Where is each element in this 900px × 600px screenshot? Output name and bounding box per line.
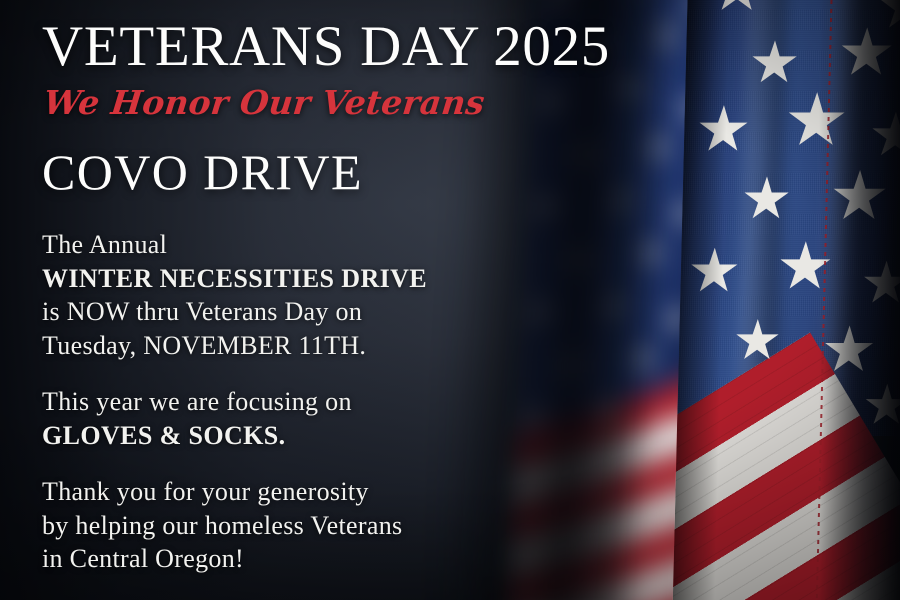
body-line: is NOW thru Veterans Day on [42, 295, 470, 329]
body-line: Thank you for your generosity [42, 475, 470, 509]
body-line: This year we are focusing on [42, 385, 470, 419]
poster-subheading: COVO DRIVE [42, 147, 363, 197]
body-line: The Annual [42, 228, 470, 262]
veterans-day-poster: VETERANS DAY 2025 We Honor Our Veterans … [0, 0, 900, 600]
body-line: by helping our homeless Veterans [42, 509, 470, 543]
body-line: in Central Oregon! [42, 542, 470, 576]
poster-text-content: VETERANS DAY 2025 We Honor Our Veterans … [0, 0, 900, 600]
body-line: GLOVES & SOCKS. [42, 419, 470, 453]
body-paragraph: Thank you for your generosityby helping … [42, 475, 470, 576]
poster-tagline: We Honor Our Veterans [42, 86, 486, 119]
body-paragraph: The AnnualWINTER NECESSITIES DRIVEis NOW… [42, 228, 470, 362]
poster-headline: VETERANS DAY 2025 [42, 18, 610, 75]
poster-body-copy: The AnnualWINTER NECESSITIES DRIVEis NOW… [42, 228, 470, 576]
body-line: Tuesday, NOVEMBER 11TH. [42, 329, 470, 363]
body-line: WINTER NECESSITIES DRIVE [42, 262, 470, 296]
body-paragraph: This year we are focusing onGLOVES & SOC… [42, 385, 470, 452]
